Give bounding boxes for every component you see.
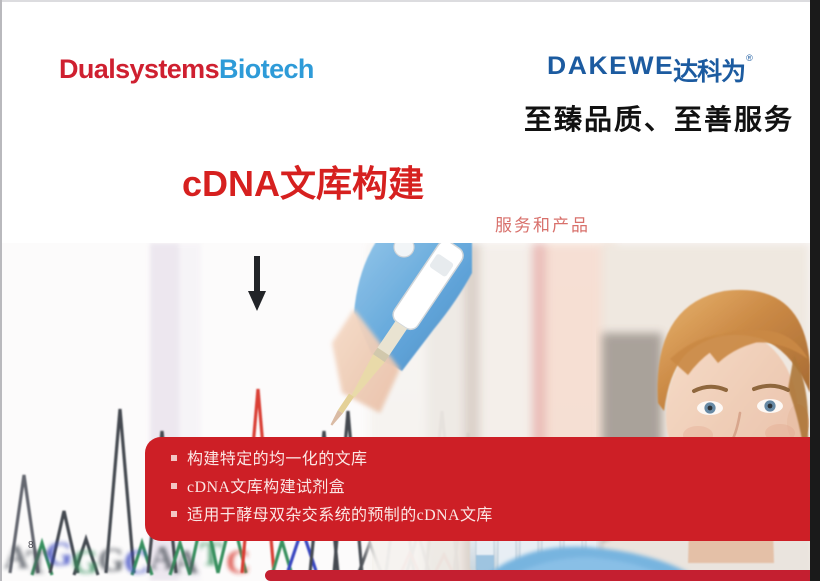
slide-header: DualsystemsBiotech DAKEWE 达科为 ® 至臻品质、至善服…	[2, 2, 810, 243]
dakewe-chinese-wordmark: 达科为	[673, 52, 745, 88]
page-subtitle: 服务和产品	[495, 211, 590, 236]
slide-right-border	[810, 0, 820, 581]
registered-trademark-icon: ®	[746, 53, 753, 63]
list-item: 适用于酵母双杂交系统的预制的cDNA文库	[171, 504, 810, 528]
company-tagline: 至臻品质、至善服务	[524, 98, 794, 138]
dualsystems-wordmark: Dualsystems	[59, 54, 219, 84]
square-bullet-icon	[171, 455, 177, 461]
bottom-accent-bar	[265, 570, 810, 581]
list-item-label: cDNA文库构建试剂盒	[187, 476, 345, 500]
dakewe-logo: DAKEWE 达科为 ®	[547, 52, 753, 88]
list-item: cDNA文库构建试剂盒	[171, 476, 810, 500]
biotech-wordmark: Biotech	[219, 54, 314, 84]
square-bullet-icon	[171, 483, 177, 489]
presentation-slide: DualsystemsBiotech DAKEWE 达科为 ® 至臻品质、至善服…	[0, 0, 820, 581]
dualsystems-biotech-logo: DualsystemsBiotech	[59, 54, 314, 85]
page-title-latin: cDNA	[182, 163, 280, 204]
list-item: 构建特定的均一化的文库	[171, 448, 810, 472]
dakewe-latin-wordmark: DAKEWE	[547, 52, 674, 81]
page-title-chinese: 文库构建	[280, 164, 424, 204]
feature-callout-box: 构建特定的均一化的文库 cDNA文库构建试剂盒 适用于酵母双杂交系统的预制的cD…	[145, 437, 810, 541]
list-item-label: 适用于酵母双杂交系统的预制的cDNA文库	[187, 504, 493, 528]
page-title: cDNA文库构建	[182, 155, 424, 207]
page-number: 8	[28, 540, 34, 551]
list-item-label: 构建特定的均一化的文库	[187, 448, 367, 472]
square-bullet-icon	[171, 511, 177, 517]
